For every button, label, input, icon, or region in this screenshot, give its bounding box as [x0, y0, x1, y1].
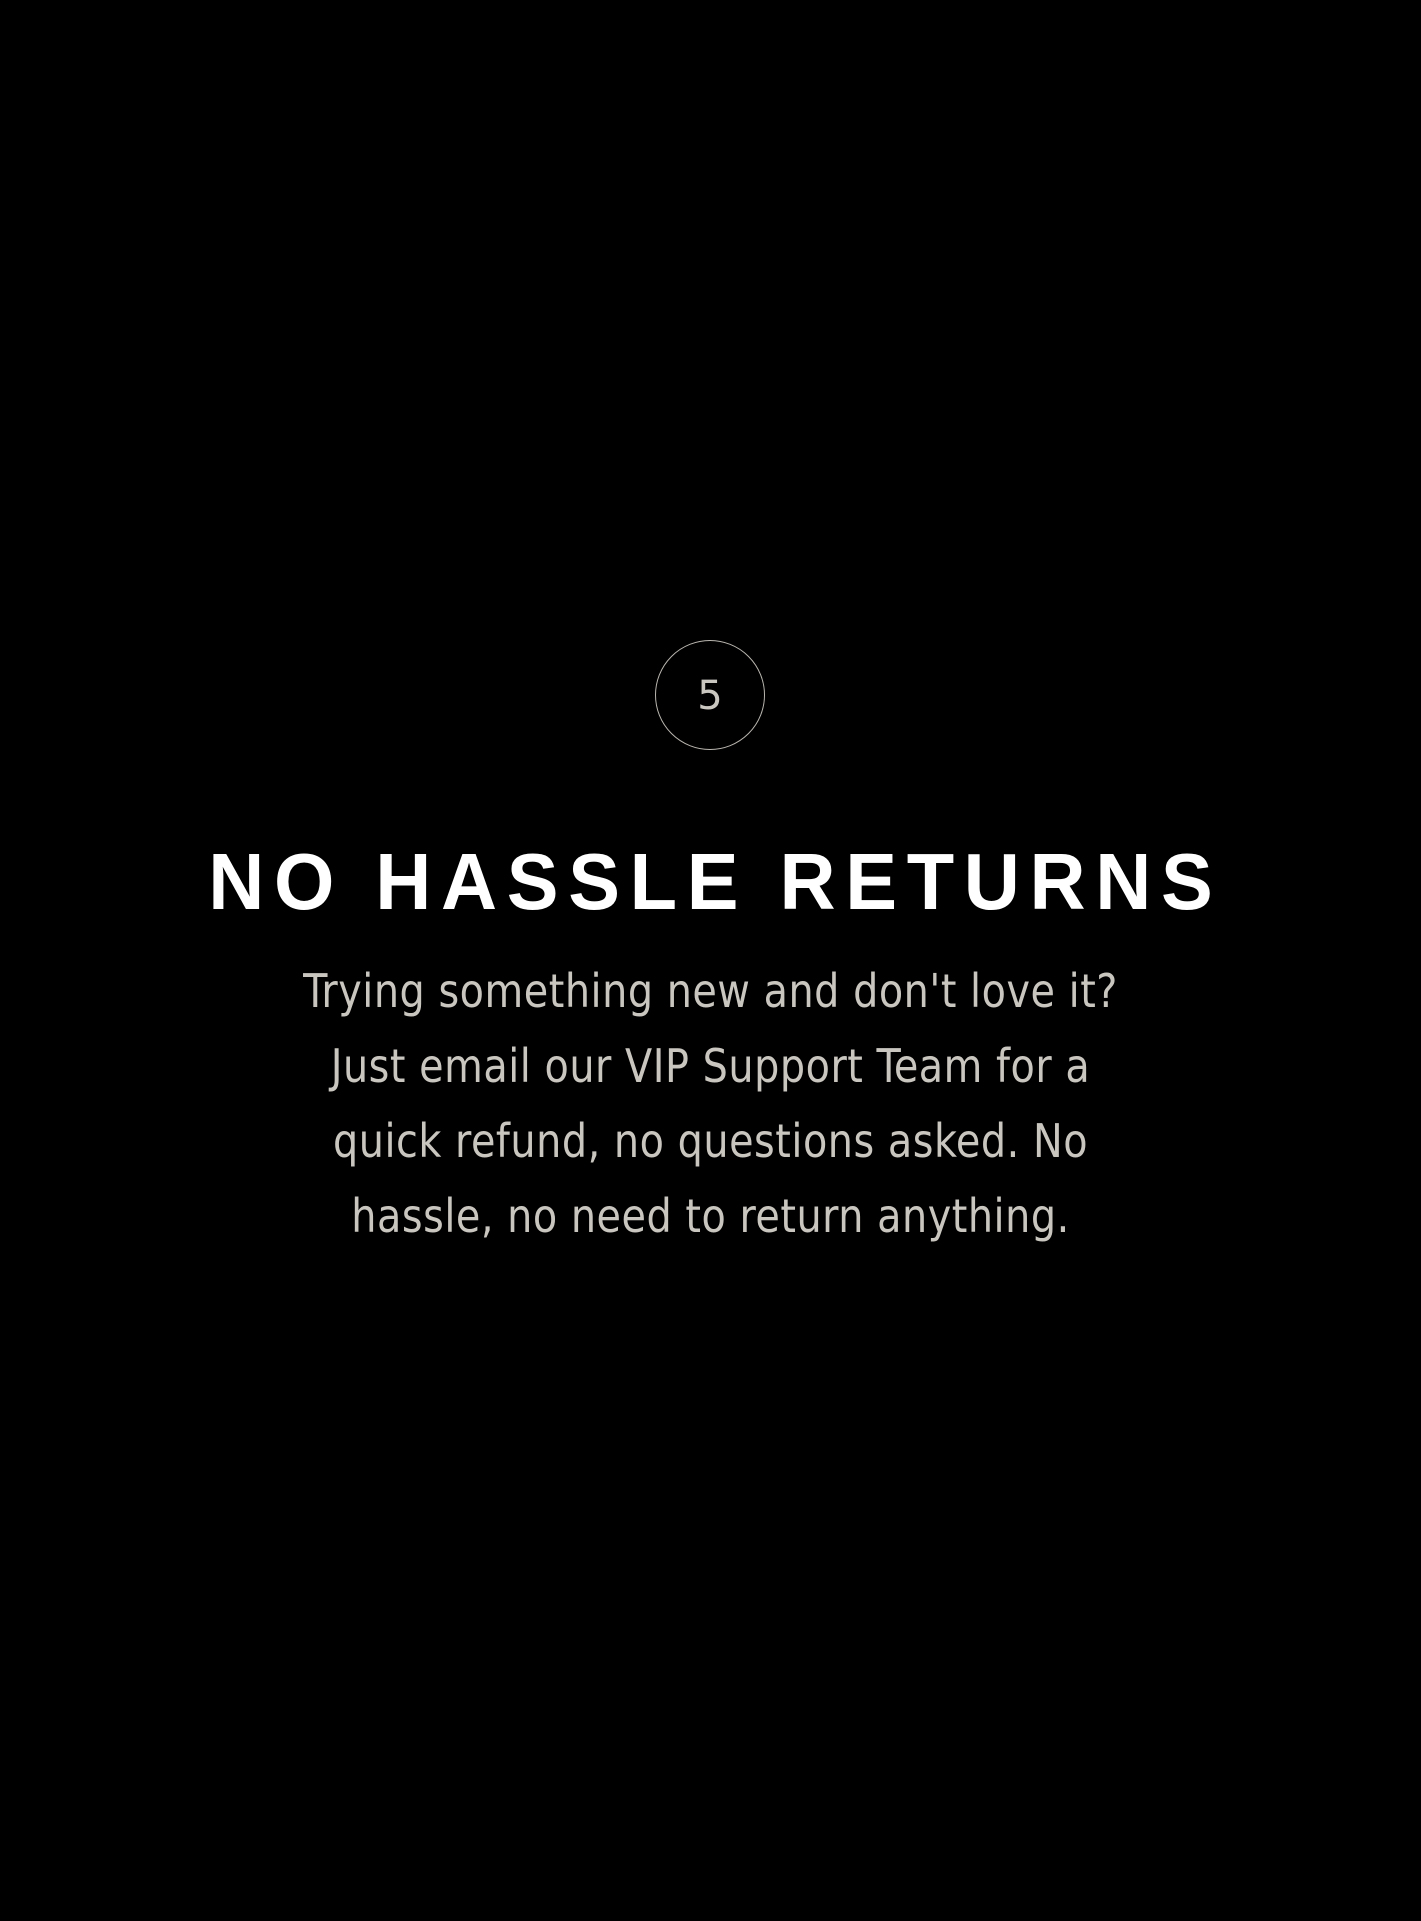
- description-line: quick refund, no questions asked. No: [230, 1104, 1191, 1179]
- description-line: hassle, no need to return anything.: [230, 1179, 1191, 1254]
- description-text: Trying something new and don't love it? …: [230, 954, 1191, 1254]
- page-title: NO HASSLE RETURNS: [21, 838, 1399, 926]
- description-line: Just email our VIP Support Team for a: [230, 1029, 1191, 1104]
- step-number-label: 5: [697, 676, 722, 716]
- step-number-badge: 5: [655, 640, 765, 750]
- benefit-slide: 5 NO HASSLE RETURNS Trying something new…: [0, 0, 1421, 1921]
- description-line: Trying something new and don't love it?: [230, 954, 1191, 1029]
- circle-outline-icon: 5: [655, 640, 765, 750]
